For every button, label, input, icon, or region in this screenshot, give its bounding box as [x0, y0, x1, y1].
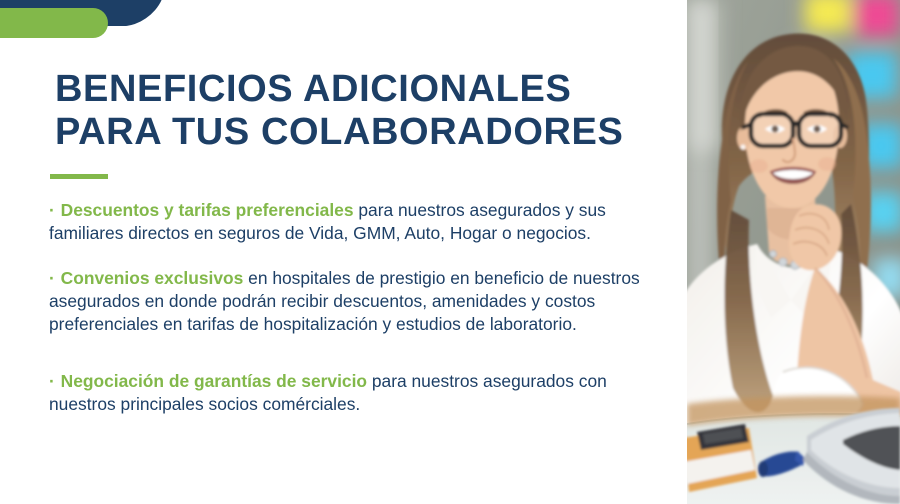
list-item: · Descuentos y tarifas preferenciales pa… [49, 199, 649, 266]
bullet-marker: · [49, 268, 55, 288]
benefits-list: · Descuentos y tarifas preferenciales pa… [49, 199, 649, 416]
list-item: · Negociación de garantías de servicio p… [49, 370, 649, 415]
list-item: · Convenios exclusivos en hospitales de … [49, 267, 649, 369]
page-title: BENEFICIOS ADICIONALES PARA TUS COLABORA… [55, 68, 655, 155]
benefit-lead: Convenios exclusivos [61, 268, 244, 288]
benefit-lead: Negociación de garantías de servicio [61, 371, 367, 391]
title-line-2: PARA TUS COLABORADORES [55, 111, 655, 154]
bullet-marker: · [49, 371, 55, 391]
title-divider-rule [50, 174, 108, 179]
hero-photo [687, 0, 900, 504]
slide-canvas: BENEFICIOS ADICIONALES PARA TUS COLABORA… [0, 0, 900, 504]
green-corner-shape [0, 8, 108, 38]
corner-decoration [0, 0, 200, 60]
bullet-marker: · [49, 200, 55, 220]
benefit-lead: Descuentos y tarifas preferenciales [61, 200, 354, 220]
hero-photo-illustration [687, 0, 900, 504]
title-line-1: BENEFICIOS ADICIONALES [55, 68, 655, 111]
